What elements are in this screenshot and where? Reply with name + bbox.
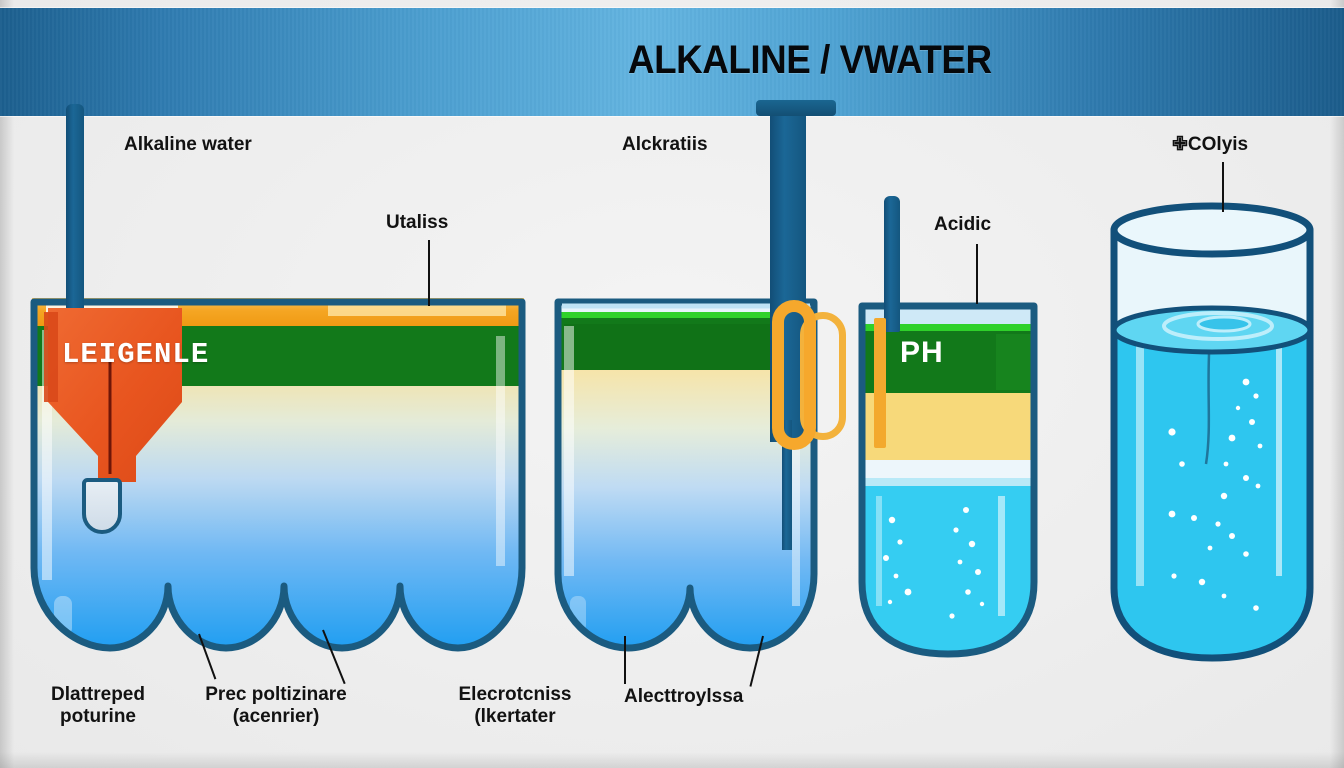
label-alecttroylssa: Alecttroylssa bbox=[624, 686, 743, 708]
label-line-1: Elecrotcniss bbox=[459, 684, 572, 705]
label-elecrotcniss: Elecrotcniss (lkertater bbox=[420, 684, 610, 729]
page-title: ALKALINE / VWATER bbox=[628, 38, 992, 83]
leader-colyis bbox=[1222, 162, 1224, 212]
label-prec-poltizinare: Prec poltizinare (acenrier) bbox=[176, 684, 376, 729]
label-line-1: Prec poltizinare bbox=[205, 684, 347, 705]
label-line-2: (acenrier) bbox=[233, 706, 320, 727]
label-alckratiis: Alckratiis bbox=[622, 134, 708, 156]
ph-band-label: PH bbox=[900, 336, 944, 370]
indicator-funnel-label: LEIGENLE bbox=[62, 338, 209, 371]
dropper-tip bbox=[82, 478, 122, 534]
page-edge-bottom bbox=[0, 752, 1344, 768]
label-dlattreped-poturine: Dlattreped poturine bbox=[18, 684, 178, 729]
label-acidic: Acidic bbox=[934, 214, 991, 236]
clamp-vessel3-bar bbox=[874, 318, 886, 448]
clamp-inner-left bbox=[772, 300, 816, 450]
label-line-1: Dlattreped bbox=[51, 684, 145, 705]
label-line-2: (lkertater bbox=[474, 706, 555, 727]
diagram-canvas: ALKALINE / VWATER bbox=[0, 0, 1344, 768]
vessel-cylinder-colyis bbox=[1106, 196, 1318, 668]
leader-acidic bbox=[976, 244, 978, 304]
label-utaliss: Utaliss bbox=[386, 212, 448, 234]
label-colyis: ✙COlyis bbox=[1172, 134, 1248, 156]
leader-utaliss bbox=[428, 240, 430, 306]
label-line-2: poturine bbox=[60, 706, 136, 727]
electrode-rod-left bbox=[66, 104, 84, 310]
label-alkaline-water: Alkaline water bbox=[124, 134, 252, 156]
leader-alecttroylssa bbox=[624, 636, 626, 684]
indicator-funnel bbox=[44, 306, 186, 496]
electrode-rod-right bbox=[884, 196, 900, 332]
electrode-post-cap bbox=[756, 100, 836, 116]
